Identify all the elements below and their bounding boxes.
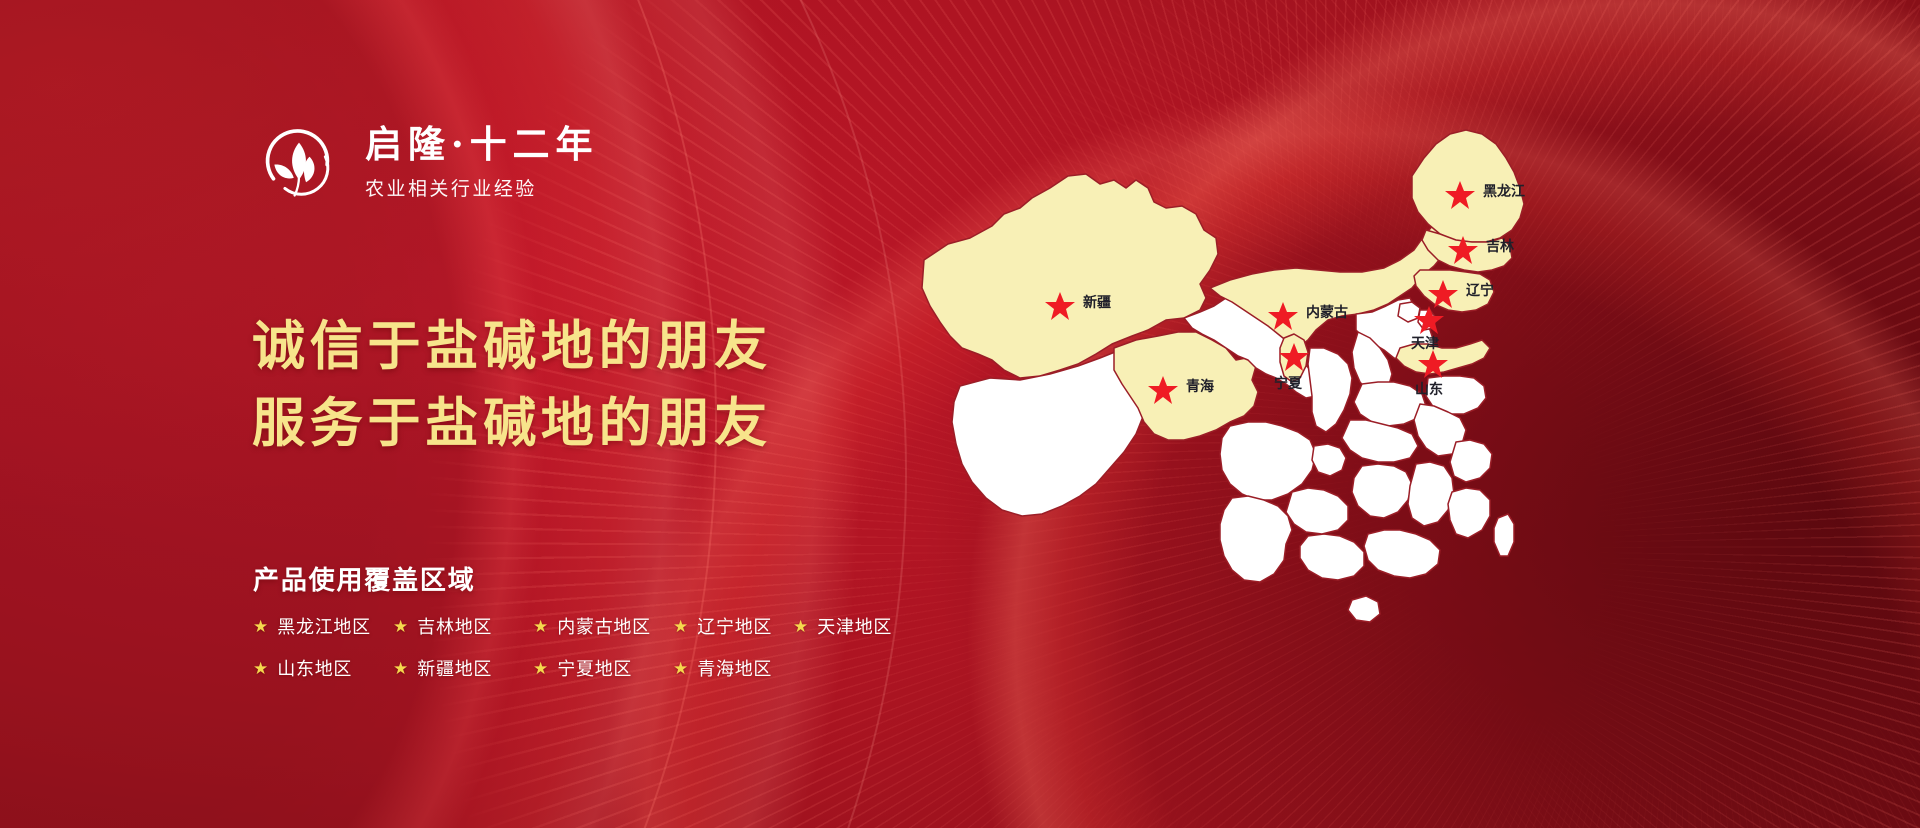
region-item[interactable]: ★青海地区: [673, 655, 793, 681]
province-hubei: [1342, 420, 1418, 462]
brand-title: 启隆·十二年: [365, 123, 598, 167]
province-taiwan: [1494, 514, 1514, 556]
province-sichuan: [1220, 422, 1316, 500]
star-icon: ★: [533, 618, 548, 635]
region-item[interactable]: ★天津地区: [793, 613, 913, 639]
region-label: 吉林地区: [417, 613, 492, 639]
lotus-leaf-circle-icon: [255, 118, 343, 206]
region-item[interactable]: ★吉林地区: [393, 613, 533, 639]
region-item[interactable]: ★山东地区: [253, 655, 393, 681]
brand-text-block: 启隆·十二年 农业相关行业经验: [365, 123, 598, 202]
region-label: 天津地区: [817, 613, 892, 639]
province-guizhou: [1286, 488, 1348, 534]
map-marker-label: 天津: [1411, 335, 1439, 352]
star-icon: ★: [253, 660, 268, 677]
region-item[interactable]: ★内蒙古地区: [533, 613, 673, 639]
province-shaanxi: [1308, 348, 1352, 432]
region-label: 宁夏地区: [557, 655, 632, 681]
map-marker-label: 辽宁: [1466, 282, 1494, 299]
promo-banner: 启隆·十二年 农业相关行业经验 诚信于盐碱地的朋友 服务于盐碱地的朋友 产品使用…: [0, 0, 1920, 828]
region-label: 青海地区: [697, 655, 772, 681]
province-zhejiang: [1450, 440, 1492, 482]
region-label: 新疆地区: [417, 655, 492, 681]
map-marker-label: 宁夏: [1274, 375, 1303, 392]
brand-logo-row: 启隆·十二年 农业相关行业经验: [255, 118, 598, 206]
map-marker-label: 内蒙古: [1306, 304, 1348, 321]
coverage-region-list: ★黑龙江地区★吉林地区★内蒙古地区★辽宁地区★天津地区★山东地区★新疆地区★宁夏…: [253, 613, 913, 681]
china-coverage-map: 新疆 黑龙江 吉林 辽宁 内蒙古: [900, 48, 1600, 688]
province-hainan: [1348, 596, 1380, 622]
map-marker-label: 新疆: [1083, 294, 1111, 311]
province-guangdong: [1364, 530, 1440, 578]
region-label: 山东地区: [277, 655, 352, 681]
star-icon: ★: [393, 618, 408, 635]
province-chongqing: [1312, 444, 1346, 476]
star-icon: ★: [673, 618, 688, 635]
province-jiangxi: [1408, 462, 1454, 526]
region-label: 黑龙江地区: [277, 613, 371, 639]
province-hunan: [1352, 464, 1412, 518]
map-marker-label: 吉林: [1486, 238, 1514, 255]
region-label: 辽宁地区: [697, 613, 772, 639]
region-item[interactable]: ★黑龙江地区: [253, 613, 393, 639]
content-column: 启隆·十二年 农业相关行业经验 诚信于盐碱地的朋友 服务于盐碱地的朋友 产品使用…: [0, 0, 900, 828]
map-marker-label: 黑龙江: [1483, 183, 1525, 200]
region-item[interactable]: ★宁夏地区: [533, 655, 673, 681]
region-label: 内蒙古地区: [557, 613, 651, 639]
region-item[interactable]: ★辽宁地区: [673, 613, 793, 639]
star-icon: ★: [533, 660, 548, 677]
star-icon: ★: [253, 618, 268, 635]
coverage-section-title: 产品使用覆盖区域: [253, 560, 476, 597]
star-icon: ★: [793, 618, 808, 635]
map-province-shapes: [922, 130, 1524, 622]
brand-subtitle: 农业相关行业经验: [365, 174, 598, 201]
headline-line-1: 诚信于盐碱地的朋友: [252, 308, 772, 385]
province-fujian: [1448, 488, 1490, 538]
headline-block: 诚信于盐碱地的朋友 服务于盐碱地的朋友: [252, 308, 772, 463]
province-yunnan: [1220, 496, 1292, 582]
star-icon: ★: [393, 660, 408, 677]
map-marker-label: 山东: [1415, 381, 1443, 398]
headline-line-2: 服务于盐碱地的朋友: [252, 385, 772, 462]
star-icon: ★: [673, 660, 688, 677]
region-item[interactable]: ★新疆地区: [393, 655, 533, 681]
province-guangxi: [1300, 534, 1364, 580]
map-marker-label: 青海: [1186, 378, 1214, 395]
